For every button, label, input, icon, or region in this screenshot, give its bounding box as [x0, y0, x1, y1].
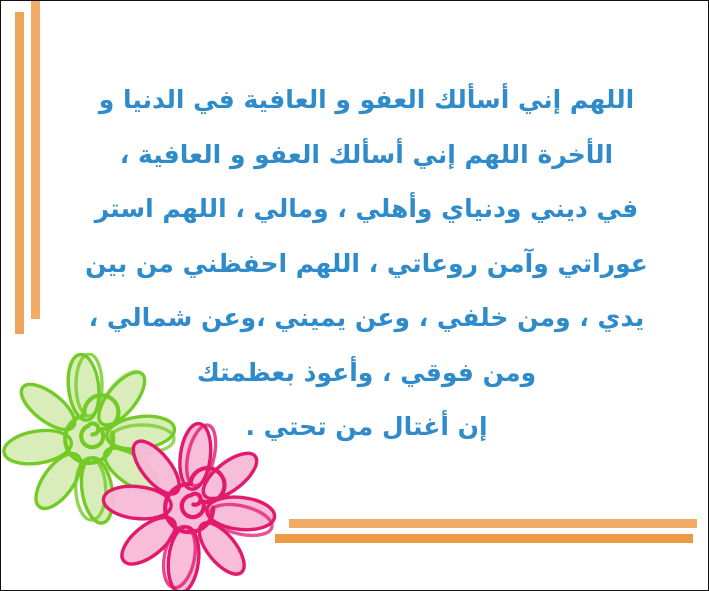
- dua-card: اللهم إني أسألك العفو و العافية في الدني…: [0, 0, 709, 591]
- dua-line-2: الأخرة اللهم إني أسألك العفو و العافية ،: [53, 128, 680, 183]
- horizontal-lower-bar: [275, 534, 693, 543]
- dua-line-4: عوراتي وآمن روعاتي ، اللهم احفظني من بين: [53, 237, 680, 292]
- vertical-inner-bar: [31, 1, 40, 319]
- flower-decoration-group: [1, 353, 293, 591]
- dua-line-3: في ديني ودنياي وأهلي ، ومالي ، اللهم است…: [53, 182, 680, 237]
- vertical-outer-bar: [15, 12, 24, 334]
- horizontal-upper-bar: [289, 519, 697, 528]
- dua-line-5: يدي ، ومن خلفي ، وعن يميني ،وعن شمالي ،: [53, 291, 680, 346]
- dua-line-1: اللهم إني أسألك العفو و العافية في الدني…: [53, 73, 680, 128]
